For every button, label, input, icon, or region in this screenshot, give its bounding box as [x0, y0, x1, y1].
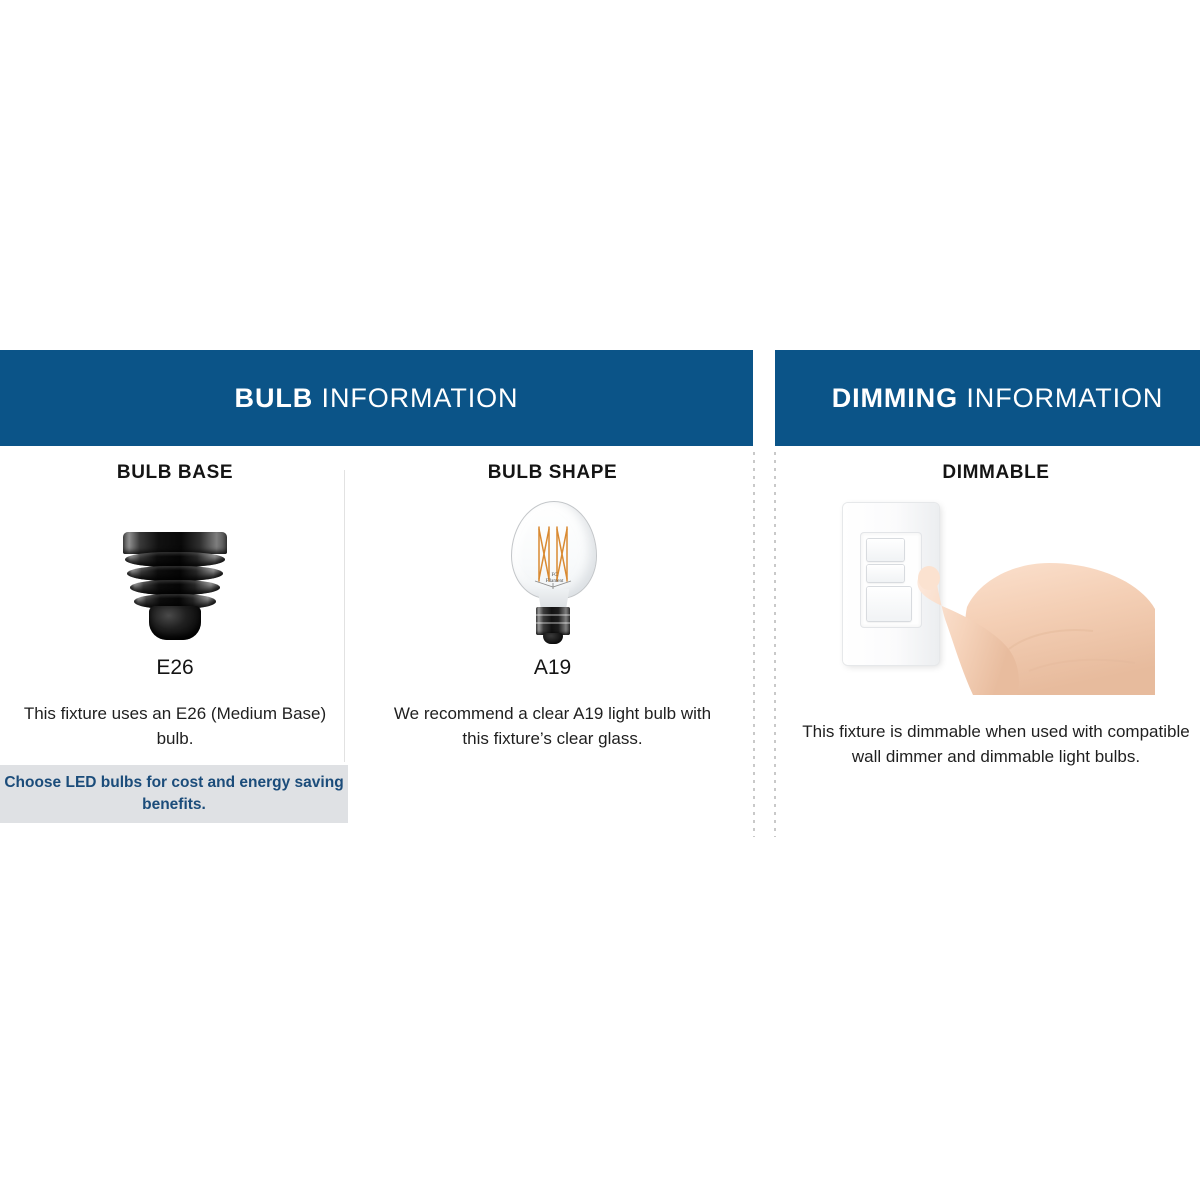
- dimmable-column: DIMMABLE: [800, 462, 1192, 769]
- bulb-base-illustration: [10, 494, 340, 644]
- bulb-shape-title: BULB SHAPE: [380, 462, 725, 484]
- bulb-and-dimming-info-graphic: BULB INFORMATION DIMMING INFORMATION BUL…: [0, 0, 1200, 1200]
- led-tip-callout: Choose LED bulbs for cost and energy sav…: [0, 765, 348, 823]
- e26-foot-contact: [149, 606, 201, 640]
- e26-screw-base-icon: [119, 532, 231, 644]
- bulb-information-header: BULB INFORMATION: [0, 350, 753, 446]
- bulb-shape-illustration: FCFilament: [380, 494, 725, 644]
- a19-foot-contact: [543, 633, 563, 644]
- dimmer-rocker-up[interactable]: [867, 539, 904, 561]
- bulb-base-title: BULB BASE: [10, 462, 340, 484]
- bulb-base-column: BULB BASE E26 This fixture uses an E26 (…: [10, 462, 340, 751]
- e26-thread-ridge: [130, 580, 220, 595]
- dimmable-description: This fixture is dimmable when used with …: [800, 720, 1192, 769]
- a19-screw-cap: [536, 607, 570, 635]
- bulb-columns-divider: [344, 470, 345, 762]
- a19-bulb-brand-mark: FCFilament: [535, 573, 575, 584]
- e26-thread-ridge: [125, 552, 225, 567]
- e26-collar: [123, 532, 227, 554]
- dimmer-rocker-main[interactable]: [867, 587, 911, 621]
- dimming-information-title-light: INFORMATION: [966, 383, 1163, 413]
- bulb-base-value: E26: [10, 656, 340, 680]
- bulb-shape-description: We recommend a clear A19 light bulb with…: [380, 702, 725, 751]
- pointing-hand-icon: [909, 523, 1159, 695]
- panel-divider-dotted-left: [753, 452, 755, 837]
- dimmable-illustration: [800, 494, 1192, 694]
- wall-dimmer-switch-icon: [831, 497, 1161, 692]
- bulb-information-title-light: INFORMATION: [322, 383, 519, 413]
- e26-thread-ridge: [127, 566, 223, 581]
- dimmer-rocker-down[interactable]: [867, 565, 904, 582]
- dimmable-title: DIMMABLE: [800, 462, 1192, 484]
- bulb-information-title: BULB INFORMATION: [235, 383, 519, 414]
- bulb-information-title-strong: BULB: [235, 383, 314, 413]
- bulb-shape-column: BULB SHAPE: [380, 462, 725, 751]
- bulb-base-description: This fixture uses an E26 (Medium Base) b…: [10, 702, 340, 751]
- a19-bulb-icon: FCFilament: [505, 501, 601, 644]
- dimming-information-header: DIMMING INFORMATION: [775, 350, 1200, 446]
- dimming-information-title: DIMMING INFORMATION: [832, 383, 1164, 414]
- led-tip-text: Choose LED bulbs for cost and energy sav…: [0, 772, 348, 816]
- bulb-shape-value: A19: [380, 656, 725, 680]
- panel-divider-dotted-right: [774, 452, 776, 837]
- dimming-information-title-strong: DIMMING: [832, 383, 958, 413]
